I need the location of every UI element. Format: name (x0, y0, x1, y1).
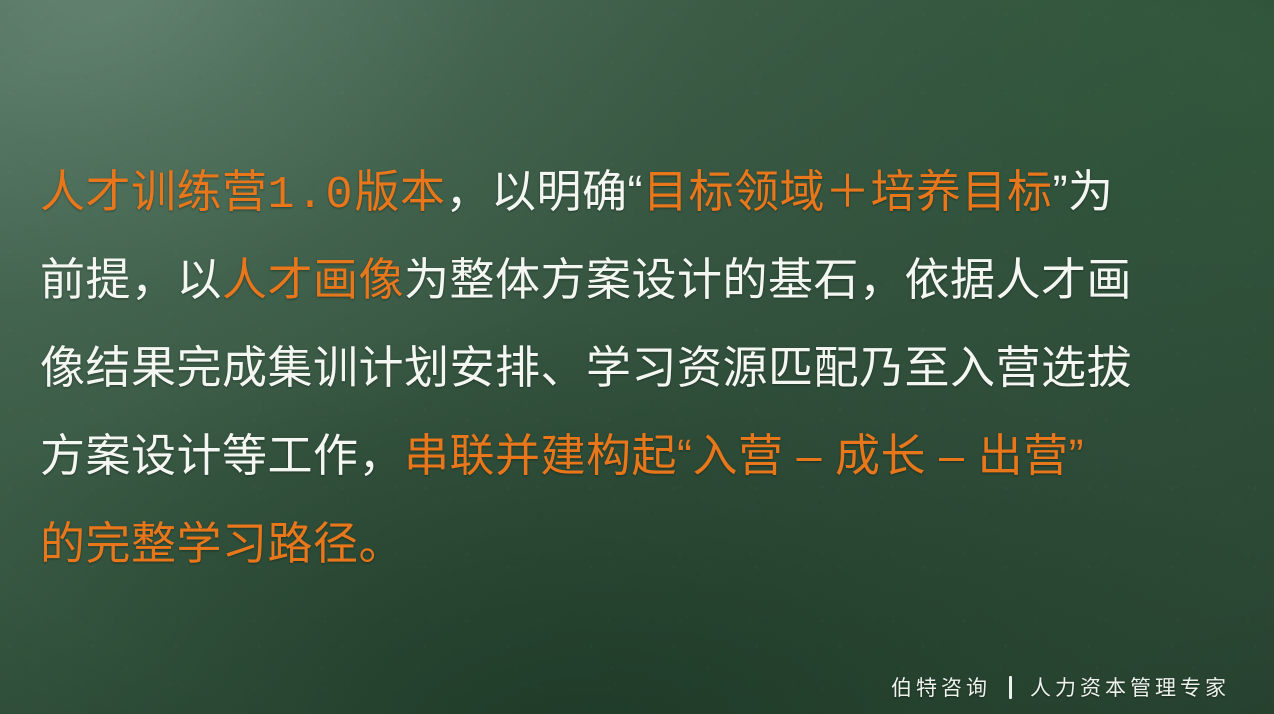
footer-brand: 伯特咨询 (891, 672, 991, 702)
body-line: 方案设计等工作，串联并建构起“入营 – 成长 – 出营” (40, 412, 1236, 500)
highlighted-text: 版本 (355, 166, 446, 217)
highlighted-text: 1.0 (268, 170, 355, 221)
body-text: 为整体方案设计的基石，依据人才画 (404, 254, 1132, 305)
body-text: 前提，以 (40, 254, 222, 305)
body-text: 方案设计等工作， (40, 430, 404, 481)
footer-tagline: 人力资本管理专家 (1030, 672, 1230, 702)
body-line: 像结果完成集训计划安排、学习资源匹配乃至入营选拔 (40, 324, 1236, 412)
body-copy: 人才训练营1.0版本，以明确“目标领域＋培养目标”为前提，以人才画像为整体方案设… (40, 148, 1236, 588)
highlighted-text: 目标领域＋培养目标 (643, 166, 1053, 217)
body-line: 前提，以人才画像为整体方案设计的基石，依据人才画 (40, 236, 1236, 324)
body-text: ”为 (1053, 166, 1114, 217)
highlighted-text: 人才画像 (222, 254, 404, 305)
body-line: 人才训练营1.0版本，以明确“目标领域＋培养目标”为 (40, 148, 1236, 236)
body-line: 的完整学习路径。 (40, 500, 1236, 588)
highlighted-text: 的完整学习路径。 (40, 518, 404, 569)
body-text: ，以明确“ (446, 166, 644, 217)
highlighted-text: 人才训练营 (40, 166, 268, 217)
highlighted-text: 串联并建构起“入营 – 成长 – 出营” (404, 430, 1084, 481)
slide-footer: 伯特咨询 人力资本管理专家 (891, 672, 1230, 702)
body-text: 像结果完成集训计划安排、学习资源匹配乃至入营选拔 (40, 342, 1132, 393)
slide-canvas: 人才训练营1.0版本，以明确“目标领域＋培养目标”为前提，以人才画像为整体方案设… (0, 0, 1274, 714)
footer-separator-icon (1009, 676, 1012, 699)
